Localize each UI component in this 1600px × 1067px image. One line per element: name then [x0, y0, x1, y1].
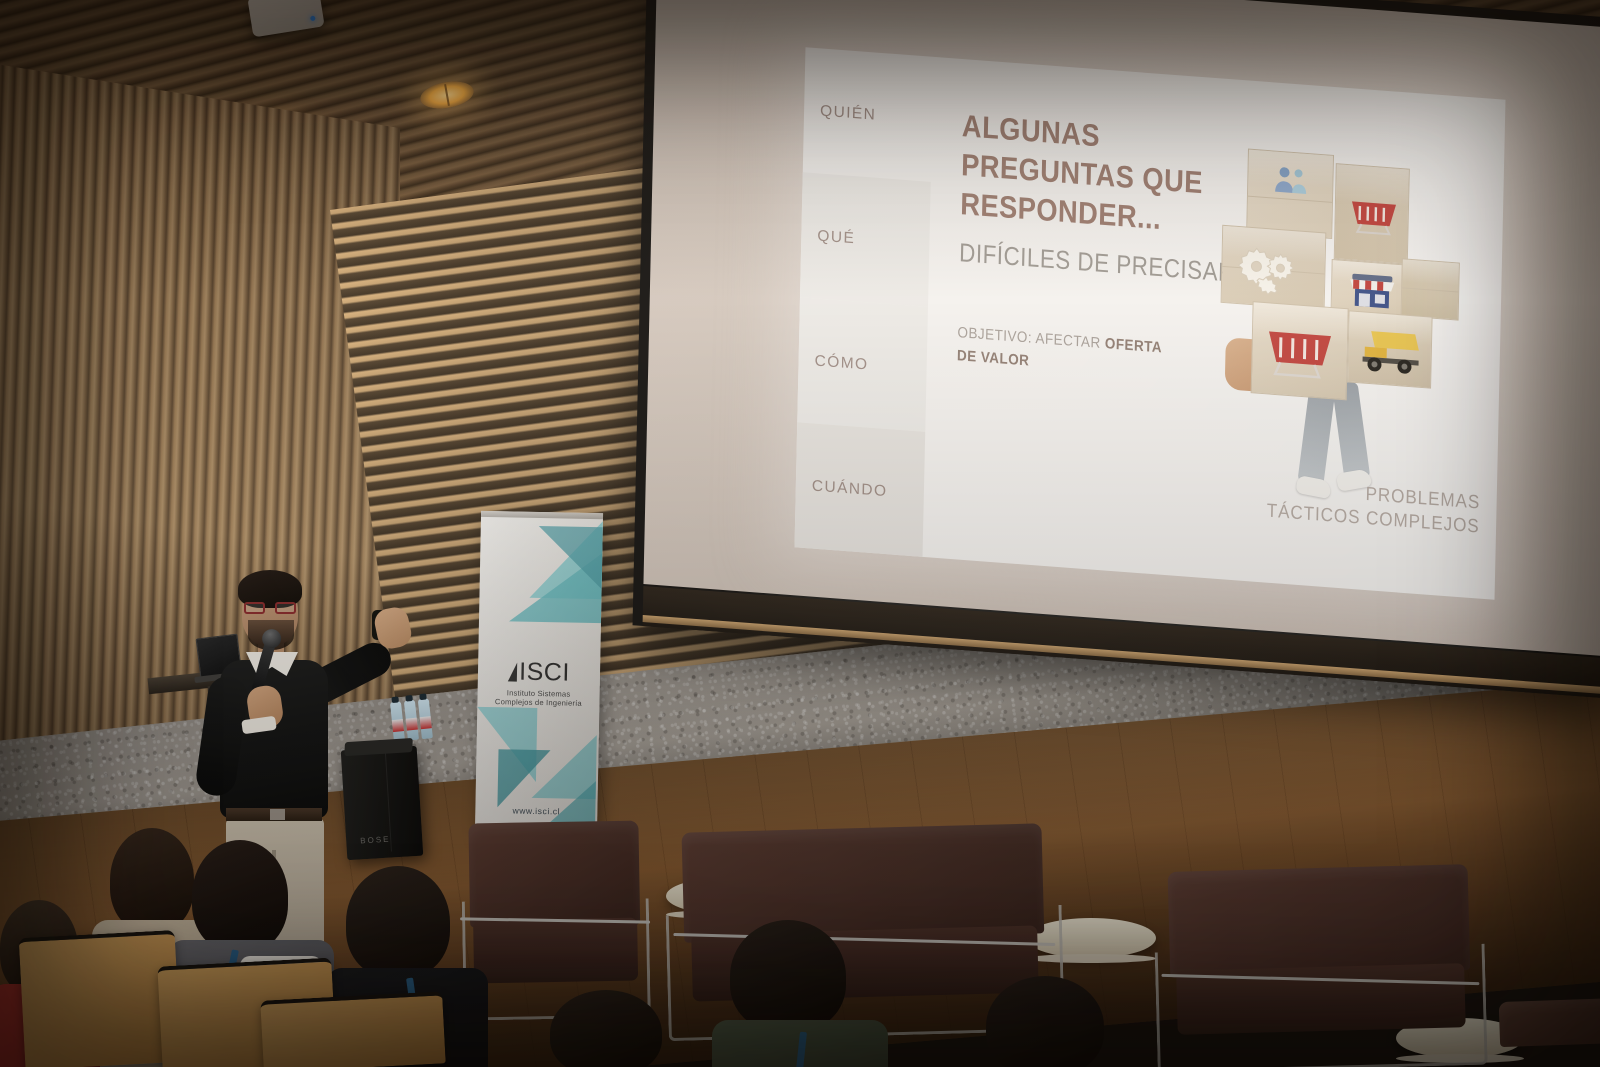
slide-sidebar: QUIÉN QUÉ CÓMO CUÁNDO: [795, 47, 934, 557]
conference-photo-scene: QUIÉN QUÉ CÓMO CUÁNDO ALGUNAS: [0, 0, 1600, 1067]
slide-sidebar-item-quien: QUIÉN: [803, 47, 934, 182]
slide-objective-bold-1: OFERTA: [1105, 335, 1163, 356]
slide-objective-bold-2: DE VALOR: [957, 347, 1030, 369]
glasses-icon: [244, 602, 296, 614]
illustration-box-basket-bottom: [1251, 301, 1349, 400]
lounge-chair: [1168, 864, 1473, 1062]
presentation-slide: QUIÉN QUÉ CÓMO CUÁNDO ALGUNAS: [795, 47, 1506, 600]
isci-rollup-banner: ISCI Instituto Sistemas Complejos de Ing…: [475, 511, 603, 835]
dump-truck-icon: [1358, 324, 1423, 377]
audience-seat: [260, 991, 446, 1067]
illustration-box-truck: [1347, 310, 1433, 388]
illustration-box-gears: [1221, 225, 1327, 311]
illustration-box-plain: [1401, 258, 1460, 320]
slide-illustration: [1178, 138, 1486, 521]
slide-sidebar-label: CÓMO: [814, 352, 868, 374]
slide-sidebar-label: QUÉ: [817, 227, 855, 248]
lounge-chair: [468, 821, 641, 1010]
presenter-belt: [226, 808, 322, 821]
slide-body: ALGUNAS PREGUNTAS QUE RESPONDER... DIFÍC…: [935, 58, 1506, 600]
slide-sidebar-item-cuando: CUÁNDO: [795, 422, 926, 557]
slide-sidebar-label: CUÁNDO: [812, 477, 888, 501]
gears-icon: [1238, 241, 1301, 300]
audience-seat: [19, 930, 182, 1067]
screen-surface: QUIÉN QUÉ CÓMO CUÁNDO ALGUNAS: [643, 0, 1600, 656]
slide-sidebar-item-que: QUÉ: [800, 172, 931, 307]
shopping-basket-icon: [1264, 325, 1337, 386]
slide-sidebar-label: QUIÉN: [820, 102, 876, 124]
storefront-icon: [1346, 269, 1399, 313]
illustration-box-people: [1246, 149, 1334, 239]
slide-sidebar-item-como: CÓMO: [797, 297, 928, 432]
illustration-box-basket-top: [1334, 163, 1410, 265]
lounge-chair: [1499, 998, 1600, 1067]
projection-screen: QUIÉN QUÉ CÓMO CUÁNDO ALGUNAS: [633, 0, 1600, 699]
people-icon: [1270, 163, 1315, 196]
shopping-basket-icon: [1347, 195, 1400, 239]
